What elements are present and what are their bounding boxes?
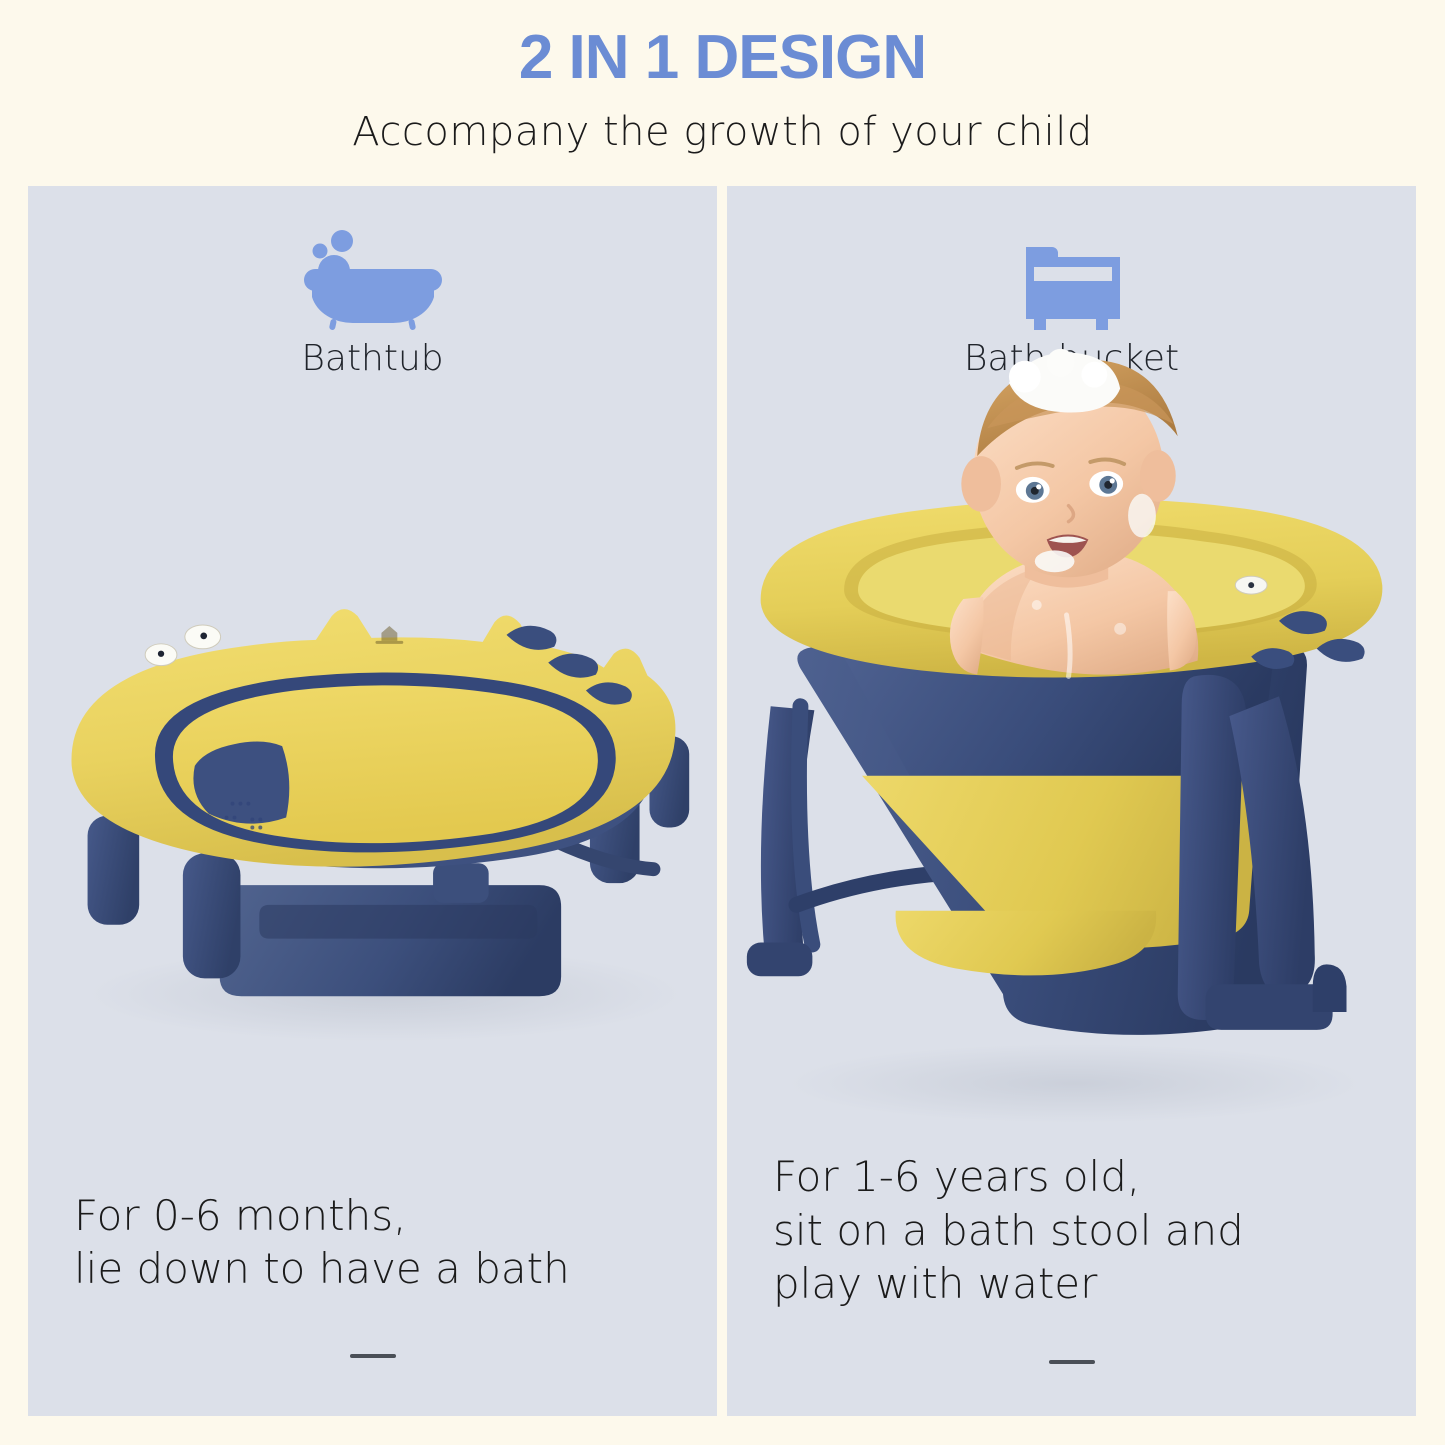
header: 2 IN 1 DESIGN Accompany the growth of yo… xyxy=(0,0,1445,186)
caption-divider-left xyxy=(350,1354,396,1358)
marketing-image: 2 IN 1 DESIGN Accompany the growth of yo… xyxy=(0,0,1445,1445)
caption-line-1: For 0-6 months, xyxy=(74,1189,671,1243)
caption-line-1: For 1-6 years old, xyxy=(773,1150,1370,1204)
folded-bathtub-photo xyxy=(28,436,717,1076)
panel-bathtub: Bathtub xyxy=(28,186,717,1416)
bath-bucket-icon-wrap xyxy=(727,222,1416,332)
panel-label-bathtub: Bathtub xyxy=(28,338,717,379)
bath-bucket-icon xyxy=(1012,225,1132,330)
bath-bucket-with-baby-photo xyxy=(727,346,1416,1136)
caption-bath-bucket: For 1-6 years old, sit on a bath stool a… xyxy=(727,1150,1416,1311)
panel-bath-bucket: Bath bucket xyxy=(727,186,1416,1416)
page-subtitle: Accompany the growth of your child xyxy=(352,109,1092,155)
brand-logo xyxy=(375,626,403,644)
bathtub-icon-wrap xyxy=(28,222,717,332)
page-title: 2 IN 1 DESIGN xyxy=(519,22,926,93)
caption-divider-right xyxy=(1049,1360,1095,1364)
caption-line-2: sit on a bath stool and xyxy=(773,1204,1370,1258)
caption-line-2: lie down to have a bath xyxy=(74,1242,671,1296)
bathtub-icon xyxy=(298,225,448,330)
caption-line-3: play with water xyxy=(773,1257,1370,1311)
panel-row: Bathtub xyxy=(28,186,1416,1416)
caption-bathtub: For 0-6 months, lie down to have a bath xyxy=(28,1189,717,1297)
